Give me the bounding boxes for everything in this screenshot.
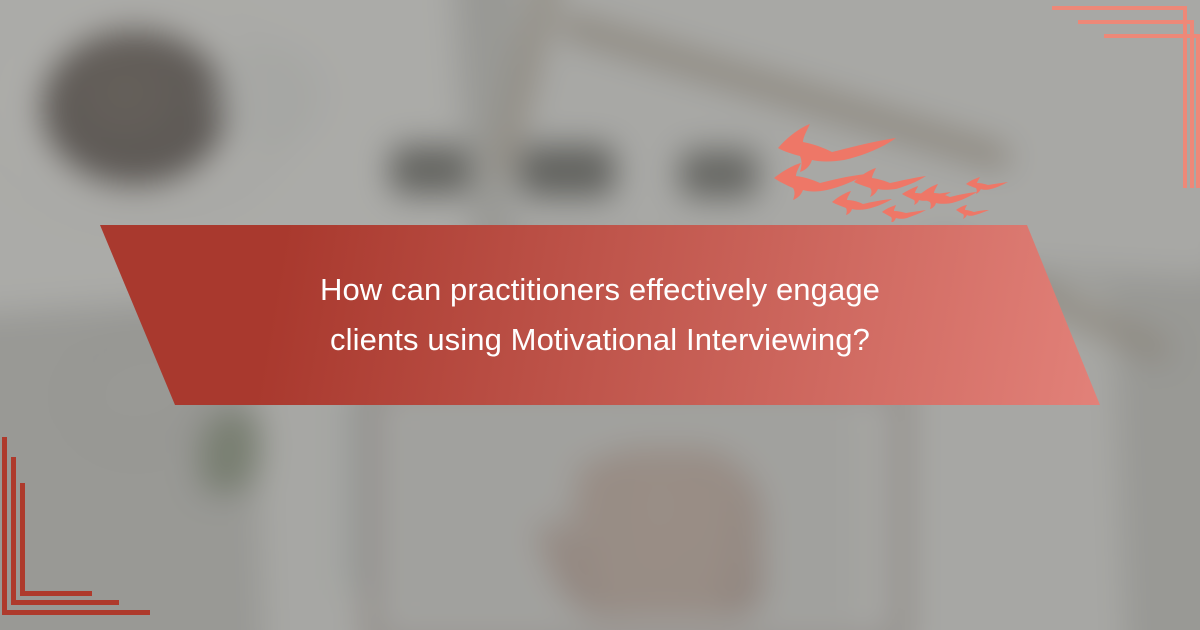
page-title-line-2: clients using Motivational Interviewing? (320, 315, 880, 365)
corner-tr-line-v3 (1196, 34, 1200, 188)
article-header-card: How can practitioners effectively engage… (0, 0, 1200, 630)
corner-tr-line-v2 (1190, 20, 1194, 188)
bird-icon-2 (774, 163, 866, 200)
corner-bl-line-v2 (11, 457, 16, 605)
corner-tr-line-h2 (1078, 20, 1190, 24)
flying-birds-flock-icon (770, 112, 1020, 222)
corner-top-right-svg (1040, 0, 1200, 190)
corner-bl-line-v1 (2, 437, 7, 615)
corner-bl-line-v3 (20, 483, 25, 596)
bird-icon-3 (854, 168, 926, 197)
corner-bottom-left-svg (0, 435, 180, 625)
corner-bl-line-h1 (2, 610, 150, 615)
title-banner: How can practitioners effectively engage… (100, 225, 1100, 405)
corner-decor-bottom-left (0, 435, 180, 630)
birds-svg (770, 112, 1020, 222)
corner-tr-line-h3 (1104, 34, 1197, 38)
bird-icon-7 (966, 177, 1008, 194)
page-title-line-1: How can practitioners effectively engage (320, 265, 880, 315)
corner-bl-line-h2 (11, 600, 119, 605)
bird-icon-8 (956, 205, 989, 219)
corner-decor-top-right (1040, 0, 1200, 195)
corner-bl-line-h3 (20, 591, 92, 596)
page-title: How can practitioners effectively engage… (280, 265, 920, 365)
birds-group (774, 124, 1008, 222)
bird-icon-6 (918, 184, 977, 209)
bird-icon-9 (882, 205, 926, 222)
corner-tr-line-h1 (1052, 6, 1187, 10)
corner-tr-line-v1 (1183, 6, 1187, 188)
